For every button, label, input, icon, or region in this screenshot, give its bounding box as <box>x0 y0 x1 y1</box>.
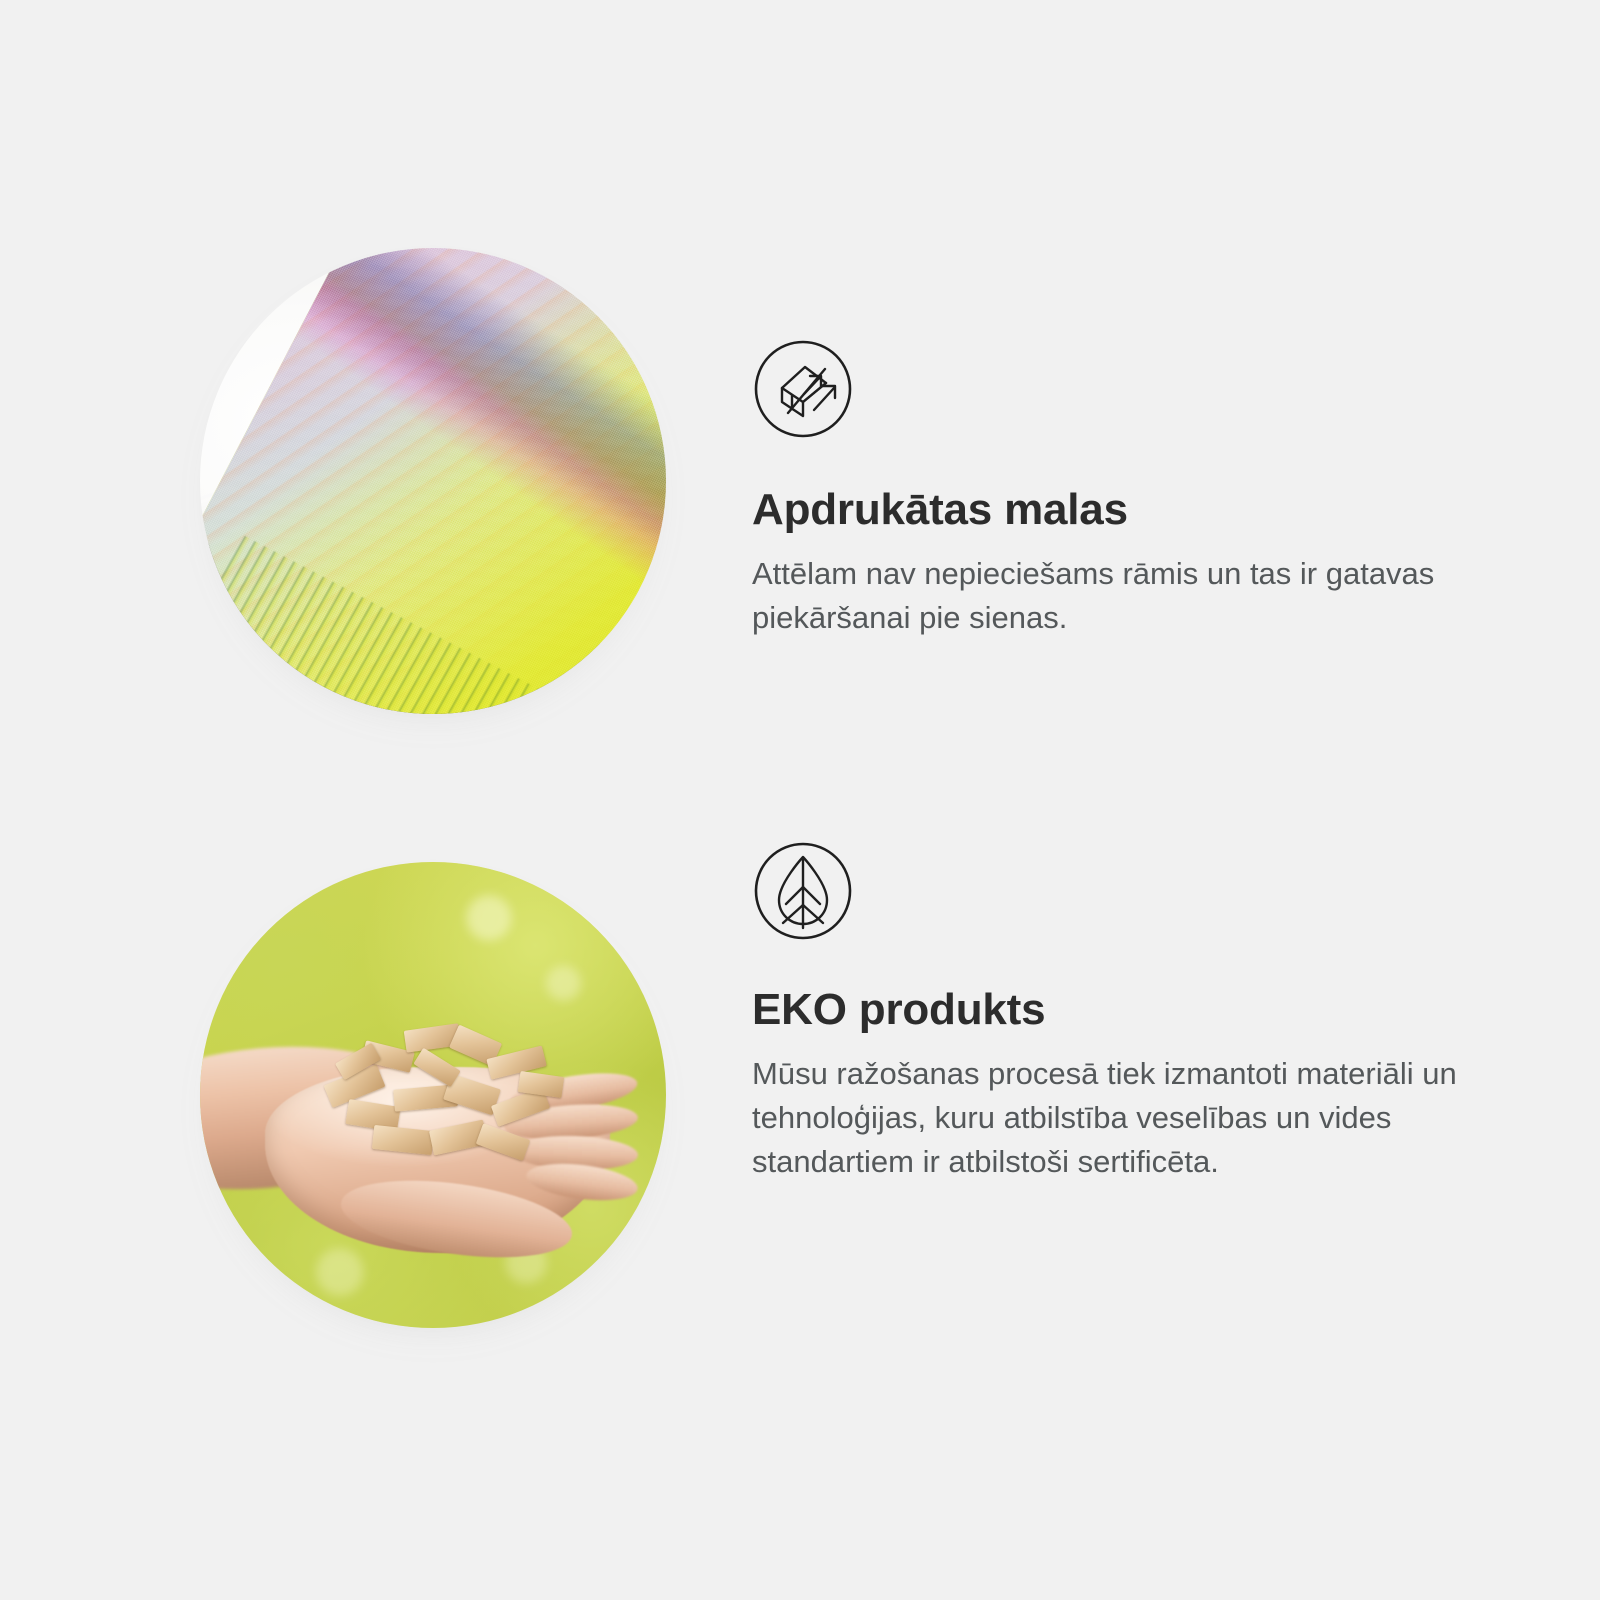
canvas-print-corner-photo <box>200 248 666 714</box>
feature-description: Attēlam nav nepieciešams rāmis un tas ir… <box>752 552 1464 640</box>
photo-circle-mask <box>200 862 666 1328</box>
hands-holding-wood-chips-photo <box>200 862 666 1328</box>
feature-title: EKO produkts <box>752 986 1492 1034</box>
leaf-icon <box>752 840 854 942</box>
feature-text-column: EKO produkts Mūsu ražošanas procesā tiek… <box>752 840 1492 1184</box>
feature-infographic-page: Apdrukātas malas Attēlam nav nepieciešam… <box>0 0 1600 1600</box>
feature-description: Mūsu ražošanas procesā tiek izmantoti ma… <box>752 1052 1464 1184</box>
feature-text-column: Apdrukātas malas Attēlam nav nepieciešam… <box>752 338 1492 640</box>
feature-block-printed-edges: Apdrukātas malas Attēlam nav nepieciešam… <box>0 230 1600 750</box>
feature-title: Apdrukātas malas <box>752 486 1492 534</box>
wood-chips-pile <box>321 1020 582 1178</box>
wrapped-canvas-edge-icon <box>752 338 854 440</box>
feature-block-eko-product: EKO produkts Mūsu ražošanas procesā tiek… <box>0 840 1600 1360</box>
photo-circle-mask <box>200 248 666 714</box>
